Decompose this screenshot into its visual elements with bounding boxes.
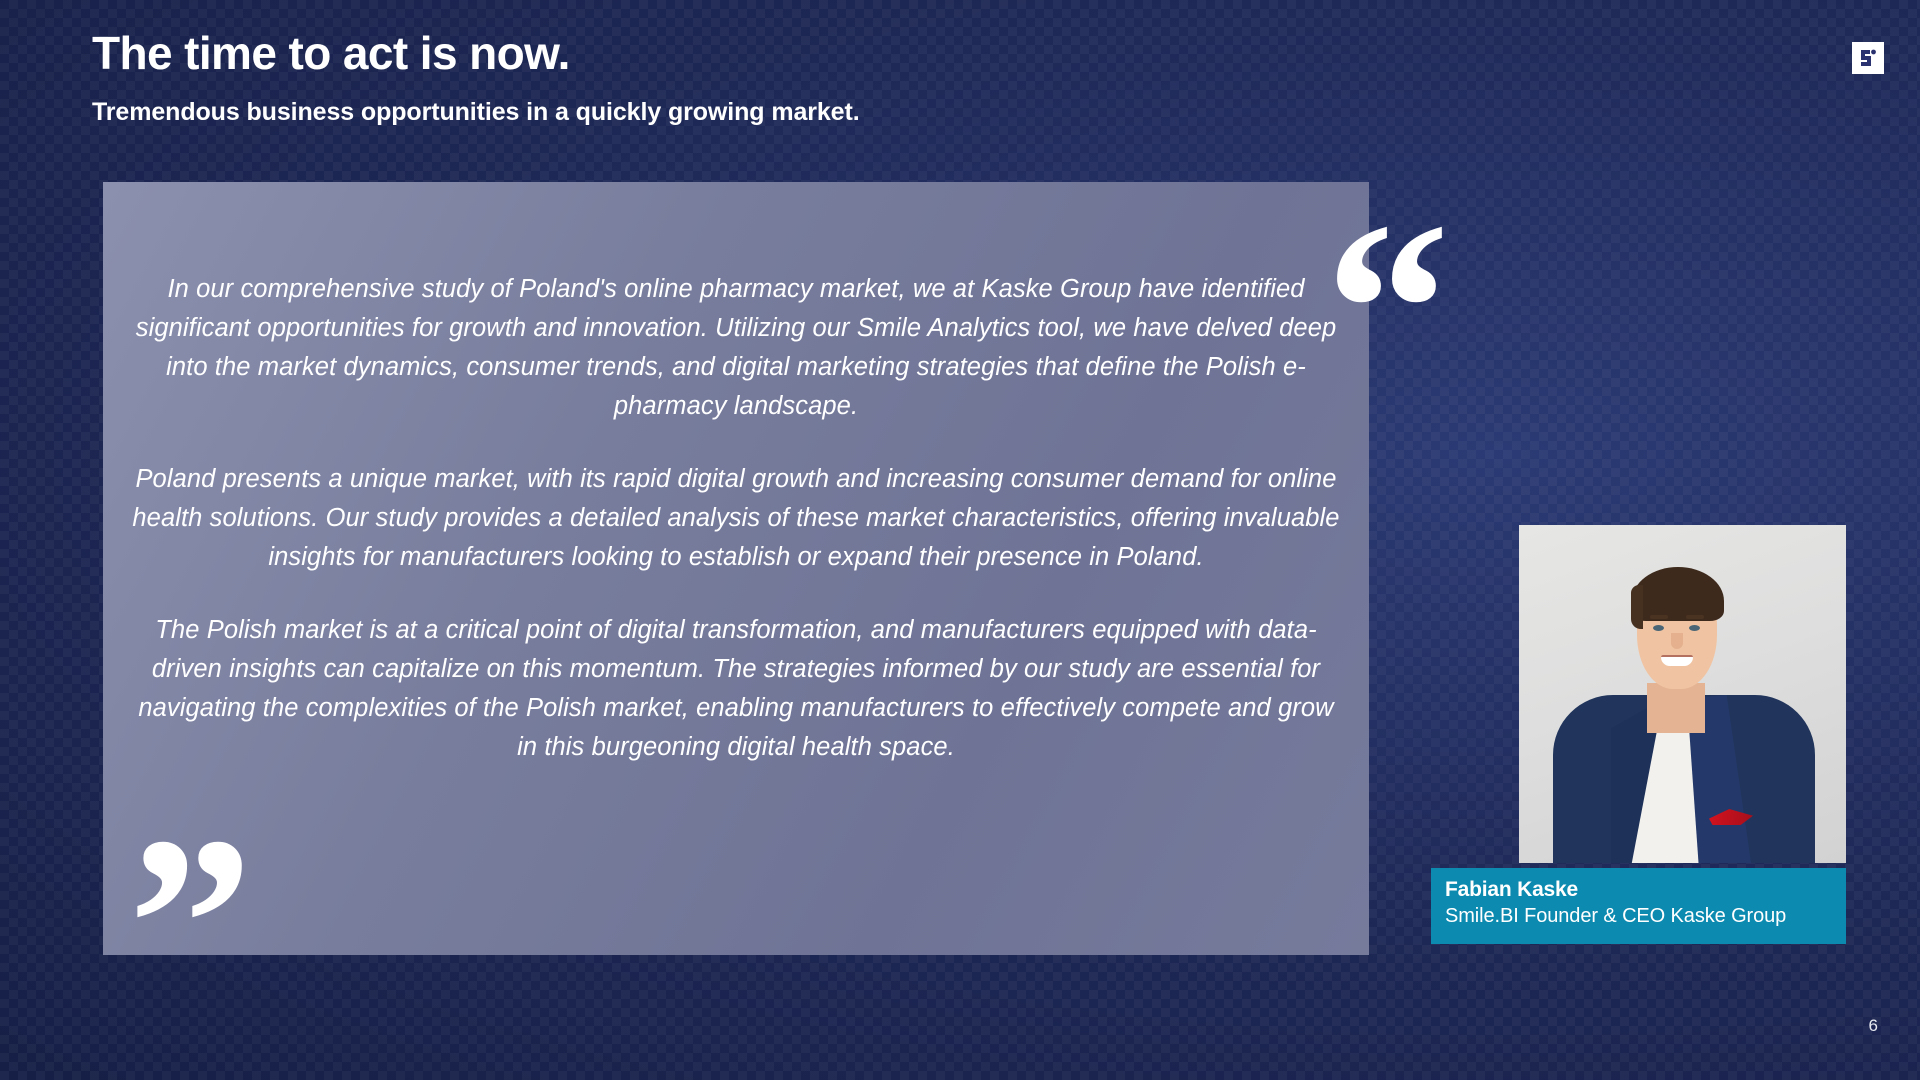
- speaker-name: Fabian Kaske: [1445, 877, 1846, 903]
- speaker-photo: [1519, 525, 1846, 863]
- quote-paragraph: Poland presents a unique market, with it…: [127, 460, 1345, 577]
- page-subtitle: Tremendous business opportunities in a q…: [92, 98, 860, 127]
- portrait-eyebrow-right: [1686, 615, 1704, 619]
- page-title: The time to act is now.: [92, 26, 570, 80]
- quote-paragraph: The Polish market is at a critical point…: [127, 611, 1345, 767]
- portrait-eye-right: [1689, 625, 1700, 631]
- opening-quote-icon: “: [1325, 185, 1444, 435]
- speaker-caption: Fabian Kaske Smile.BI Founder & CEO Kask…: [1431, 868, 1846, 944]
- portrait-eye-left: [1653, 625, 1664, 631]
- portrait-eyebrow-left: [1650, 615, 1668, 619]
- portrait-hair-side: [1631, 585, 1643, 629]
- closing-quote-icon: ”: [128, 800, 247, 1050]
- quote-text-block: In our comprehensive study of Poland's o…: [103, 182, 1369, 955]
- portrait-mouth: [1661, 655, 1693, 666]
- quote-paragraph: In our comprehensive study of Poland's o…: [127, 270, 1345, 426]
- speaker-role: Smile.BI Founder & CEO Kaske Group: [1445, 903, 1846, 930]
- page-number: 6: [1869, 1016, 1878, 1036]
- portrait-nose: [1671, 633, 1683, 649]
- smile-bi-logo-icon: [1852, 42, 1884, 74]
- portrait-neck: [1647, 683, 1705, 733]
- presentation-slide: The time to act is now. Tremendous busin…: [0, 0, 1920, 1080]
- portrait-image: [1519, 525, 1846, 863]
